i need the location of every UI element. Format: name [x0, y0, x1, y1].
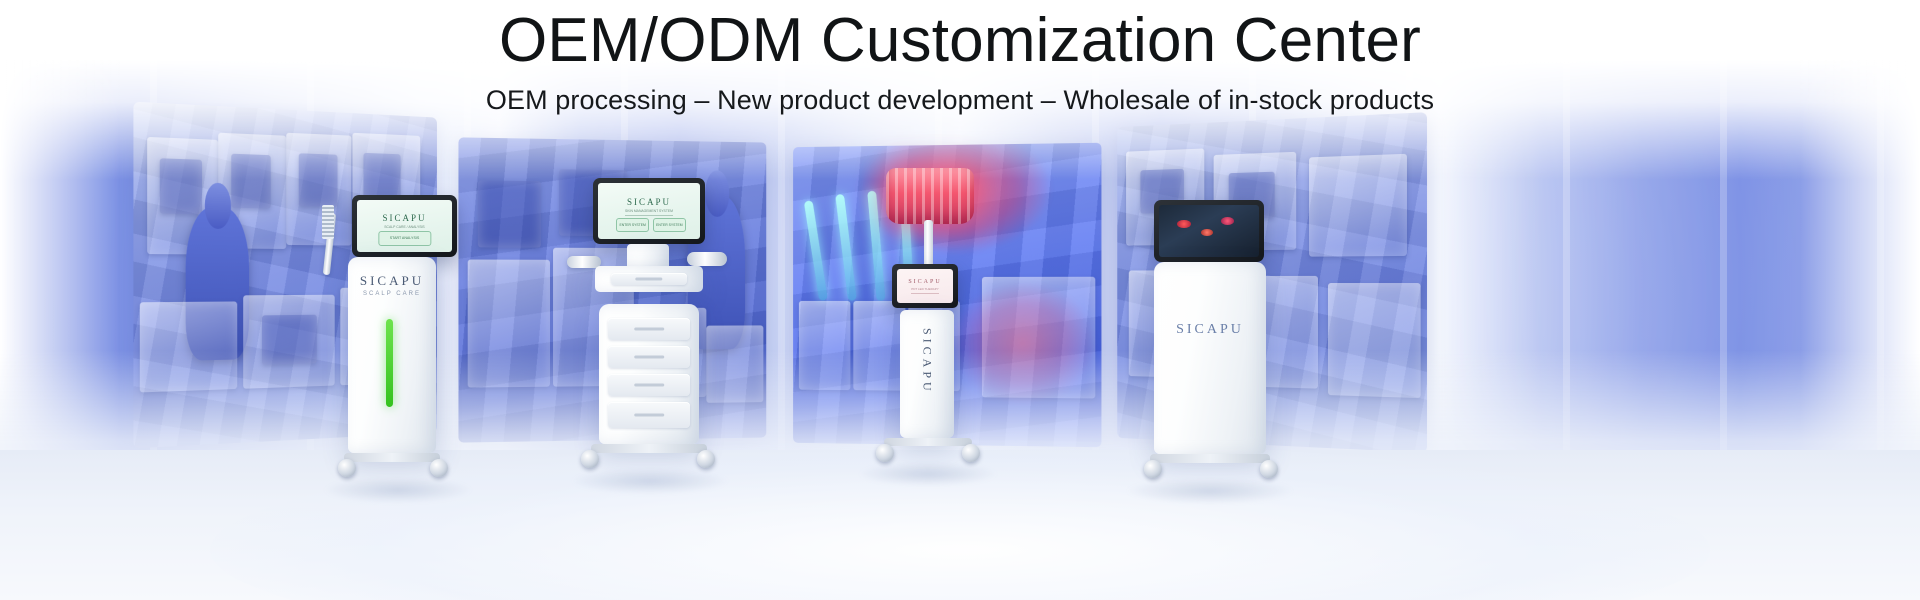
machine2-drawer-4[interactable] [608, 402, 690, 428]
machine2-drawer-1[interactable] [608, 318, 690, 340]
machine4-scan-marker-2 [1201, 229, 1213, 236]
machine4-base [1150, 454, 1270, 463]
machine1-reflection [323, 477, 473, 503]
machine1-wheel-right [430, 459, 448, 477]
hydra-facial-trolley: SICAPU SKIN MANAGEMENT SYSTEM ENTER SYST… [575, 178, 725, 493]
machine4-wheel-right [1260, 460, 1278, 478]
machine2-cabinet [599, 304, 699, 444]
machine2-base [591, 444, 707, 453]
machine2-reflection [570, 468, 730, 494]
machine3-base [884, 438, 972, 446]
skin-analyzer-trolley: SICAPU [1140, 200, 1280, 500]
led-pdt-trolley: SICAPU PDT LED THERAPY SICAPU [868, 168, 988, 498]
machine2-screen-sub: SKIN MANAGEMENT SYSTEM [625, 209, 673, 216]
machine1-indicator-bar [386, 319, 393, 407]
machine2-wheel-left [581, 450, 599, 468]
machine4-screen[interactable] [1154, 200, 1264, 262]
machine4-scan-marker-3 [1221, 217, 1234, 225]
machine3-control-screen[interactable]: SICAPU PDT LED THERAPY [892, 264, 958, 308]
machine2-drawer-2[interactable] [608, 346, 690, 368]
machine1-screen-brand: SICAPU [382, 213, 426, 223]
machine2-screen-button-left[interactable]: ENTER SYSTEM [616, 218, 649, 232]
machine1-brand: SICAPU [348, 273, 436, 289]
machine3-cabinet: SICAPU [900, 310, 954, 438]
scalp-care-trolley: SICAPU SCALP CARE / ANALYSIS START ANALY… [330, 195, 465, 495]
machine1-wheel-left [338, 459, 356, 477]
machine3-wheel-left [876, 444, 894, 462]
machine4-scan-marker-1 [1177, 220, 1191, 228]
page-title: OEM/ODM Customization Center [0, 8, 1920, 74]
machine2-tray-slot[interactable] [611, 273, 687, 285]
machine2-screen-button-right[interactable]: ENTER SYSTEM [653, 218, 686, 232]
machine1-screen-button[interactable]: START ANALYSIS [378, 231, 431, 246]
machine3-wheel-right [962, 444, 980, 462]
oem-odm-banner: SICAPU SCALP CARE / ANALYSIS START ANALY… [0, 0, 1920, 600]
machine3-led-hood [886, 168, 974, 224]
machine4-brand: SICAPU [1154, 322, 1266, 338]
machine1-model: SCALP CARE [348, 291, 436, 297]
machine1-screen[interactable]: SICAPU SCALP CARE / ANALYSIS START ANALY… [352, 195, 457, 257]
machine2-drawer-3[interactable] [608, 374, 690, 396]
machine3-brand: SICAPU [920, 328, 935, 395]
machine2-tray [595, 266, 703, 292]
machine4-reflection [1125, 478, 1295, 504]
banner-heading: OEM/ODM Customization Center OEM process… [0, 8, 1920, 116]
page-subtitle: OEM processing – New product development… [0, 84, 1920, 116]
machine1-cabinet: SICAPU SCALP CARE [348, 257, 436, 453]
machine3-reflection [858, 462, 998, 486]
machine4-cabinet: SICAPU [1154, 262, 1266, 454]
machine1-comb-probe [322, 205, 334, 239]
machine2-wheel-right [697, 450, 715, 468]
machine2-screen[interactable]: SICAPU SKIN MANAGEMENT SYSTEM ENTER SYST… [593, 178, 705, 244]
machine4-wheel-left [1144, 460, 1162, 478]
machine2-handpiece-right [687, 252, 727, 266]
machine3-screen-brand: SICAPU [908, 279, 941, 285]
machine1-base [344, 453, 440, 462]
machine3-screen-sub: PDT LED THERAPY [911, 287, 939, 294]
machine2-screen-brand: SICAPU [627, 197, 671, 207]
